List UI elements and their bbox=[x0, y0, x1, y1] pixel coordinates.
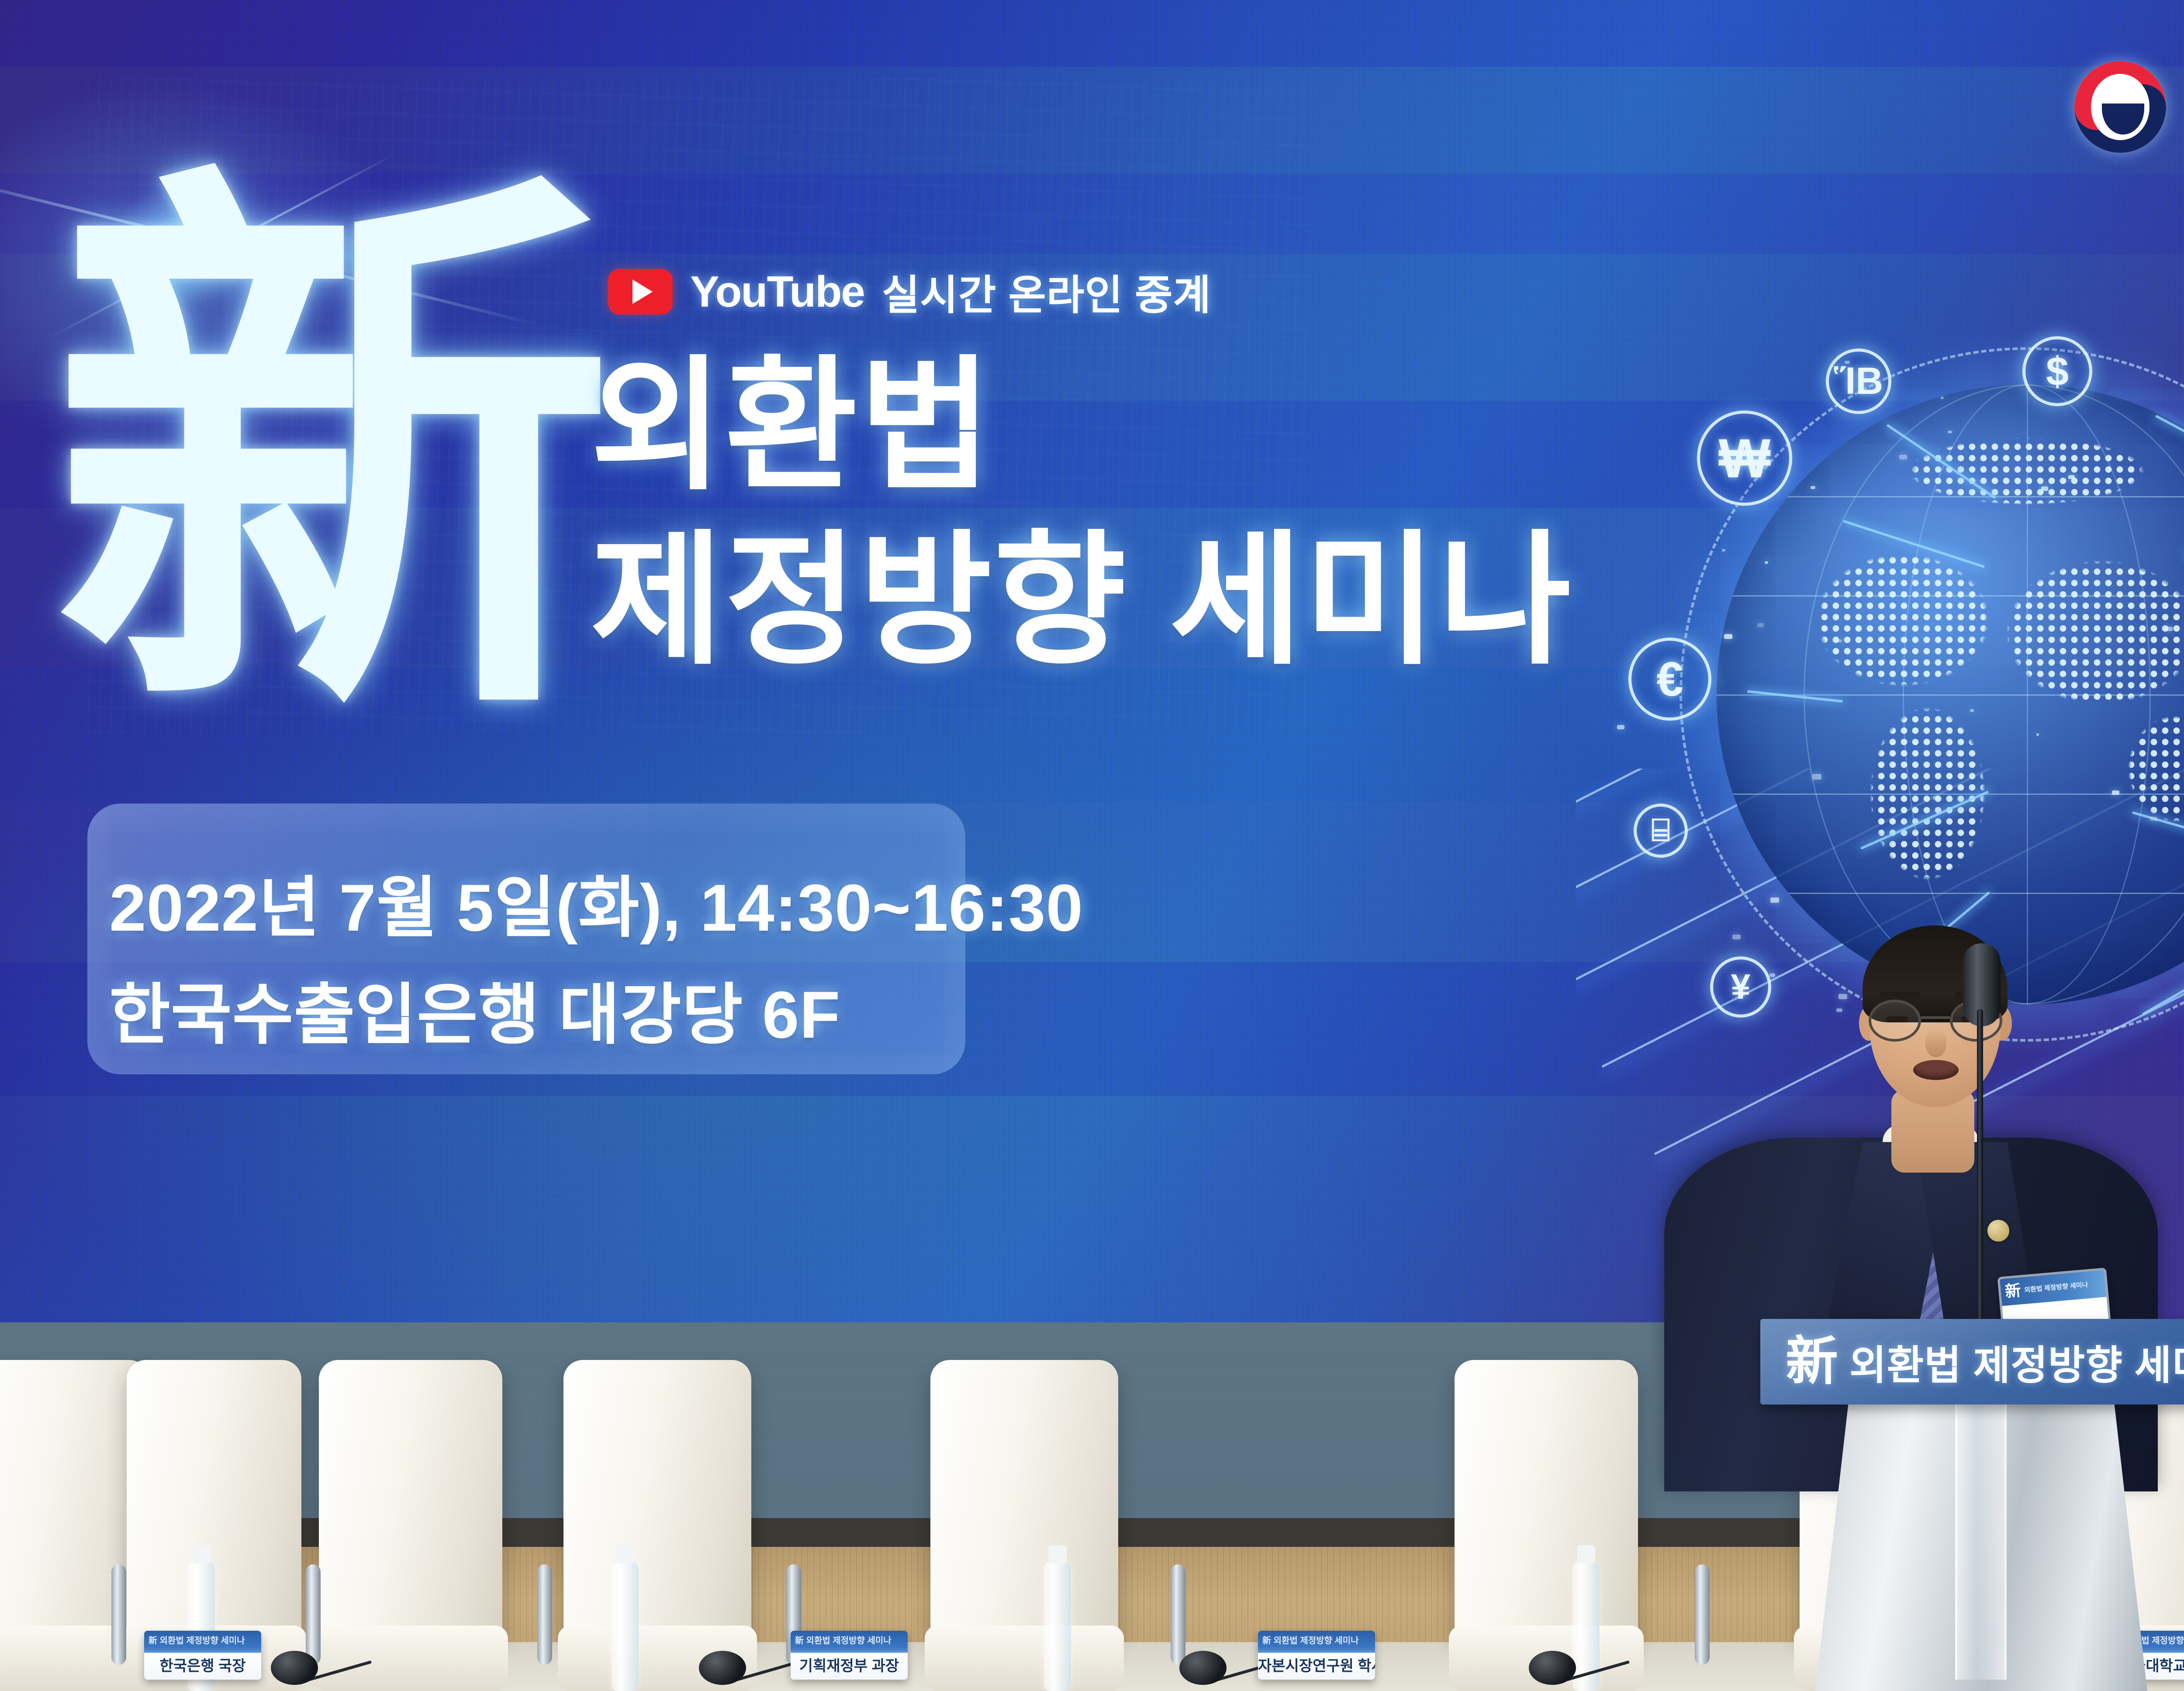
badge-event-label: 외환법 제정방향 세미나 bbox=[2024, 1281, 2088, 1294]
globe-particle-dot bbox=[1933, 796, 1939, 800]
desk-name-plate: 新 외환법 제정방향 세미나자본시장연구원 학사 bbox=[1258, 1631, 1375, 1680]
globe-particle-dot bbox=[1770, 897, 1779, 903]
desk-name-plate: 新 외환법 제정방향 세미나기획재정부 과장 bbox=[791, 1631, 908, 1680]
broadcast-notice: YouTube 실시간 온라인 중계 bbox=[608, 262, 1211, 321]
won-icon: ₩ bbox=[1697, 411, 1792, 506]
plate-event-label: 新 외환법 제정방향 세미나 bbox=[149, 1633, 257, 1646]
globe-particle-dot bbox=[1837, 639, 1842, 642]
globe-spark-line bbox=[1886, 424, 1996, 500]
globe-particle-dot bbox=[1812, 774, 1821, 780]
seminar-title-line2: 제정방향 세미나 bbox=[591, 528, 1573, 673]
seminar-title-line1: 외환법 bbox=[591, 354, 994, 498]
gov-logo: 기획재정부 bbox=[2074, 61, 2184, 153]
podium: 新 외환법 제정방향 세미나 bbox=[1760, 1319, 2184, 1691]
bank-icon: ἽB bbox=[1826, 349, 1891, 414]
globe-spark-line bbox=[1860, 790, 1989, 850]
globe-spark-line bbox=[2155, 415, 2184, 479]
plate-event-label: 新 외환법 제정방향 세미나 bbox=[795, 1633, 903, 1646]
event-location: 한국수출입은행 대강당 6F bbox=[109, 961, 840, 1057]
globe-particle-dot bbox=[1970, 709, 1974, 712]
globe-particle-dot bbox=[1845, 361, 1850, 364]
globe-spark-line bbox=[1843, 520, 1985, 568]
globe-particle-dot bbox=[2036, 733, 2039, 736]
globe-particle-dot bbox=[1811, 486, 1815, 489]
sin-character-glyph: 新 bbox=[52, 175, 602, 742]
banknote-icon: ⌸ bbox=[1634, 804, 1688, 858]
globe-particle-dot bbox=[2041, 487, 2048, 491]
globe-particle-dot bbox=[2166, 627, 2173, 631]
plate-event-label: 新 외환법 제정방향 세미나 bbox=[1262, 1633, 1371, 1646]
podium-glass-column bbox=[1955, 1400, 2007, 1680]
globe-particle-dot bbox=[1617, 725, 1624, 729]
taegeuk-icon bbox=[2074, 61, 2166, 153]
dollar-icon: $ bbox=[2022, 336, 2092, 406]
globe-particle-dot bbox=[2150, 817, 2157, 821]
globe-spark-line bbox=[2132, 811, 2184, 849]
globe-particle-dot bbox=[1765, 561, 1768, 564]
globe-particle-dot bbox=[1722, 549, 1725, 552]
globe-particle-dot bbox=[1899, 455, 1907, 459]
podium-sign: 新 외환법 제정방향 세미나 bbox=[1760, 1319, 2184, 1405]
globe-spark-line bbox=[1747, 690, 1843, 703]
youtube-wordmark: YouTube bbox=[690, 267, 864, 317]
plate-name-label: 기획재정부 과장 bbox=[791, 1654, 908, 1675]
euro-icon: € bbox=[1628, 638, 1711, 721]
globe-particle-dot bbox=[2112, 790, 2119, 795]
globe-particle-dot bbox=[2068, 475, 2075, 479]
speaker-mouth bbox=[1913, 1060, 1959, 1080]
podium-sin-glyph: 新 bbox=[1786, 1336, 1838, 1388]
globe-particle-dot bbox=[1724, 634, 1732, 639]
event-datetime: 2022년 7월 5일(화), 14:30~16:30 bbox=[109, 854, 1083, 950]
plate-name-label: 한국은행 국장 bbox=[144, 1654, 261, 1675]
youtube-icon bbox=[608, 269, 673, 314]
globe-particle-dot bbox=[1757, 623, 1764, 627]
broadcast-label: 실시간 온라인 중계 bbox=[882, 262, 1211, 321]
desk-name-plate: 新 외환법 제정방향 세미나한국은행 국장 bbox=[144, 1631, 261, 1680]
podium-title-label: 외환법 제정방향 세미나 bbox=[1849, 1333, 2184, 1391]
plate-name-label: 자본시장연구원 학사 bbox=[1258, 1654, 1375, 1675]
press-conference-photo: 기획재정부 新 YouTube 실시간 온라인 중계 외환법 제정방향 세미나 … bbox=[0, 0, 2184, 1691]
badge-sin-glyph: 新 bbox=[2004, 1283, 2022, 1300]
globe-particle-dot bbox=[1941, 397, 1944, 399]
podium-microphone-icon bbox=[1966, 943, 1992, 1336]
globe-particle-dot bbox=[1948, 431, 1952, 433]
